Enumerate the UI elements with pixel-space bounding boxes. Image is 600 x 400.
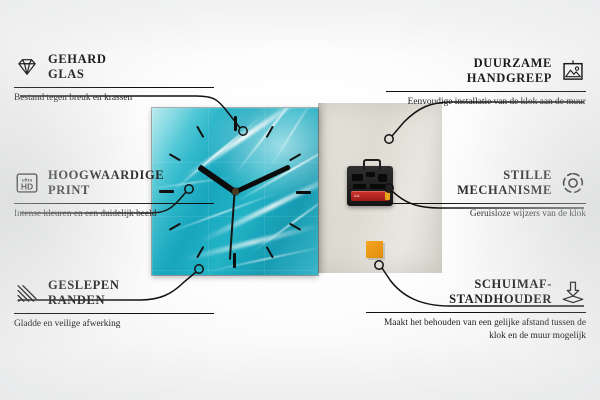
feature-header: SCHUIMAF- STANDHOUDER (366, 277, 586, 308)
divider (366, 312, 586, 314)
battery: AA (351, 191, 389, 201)
divider (386, 203, 586, 205)
svg-text:HD: HD (21, 182, 33, 192)
feature-header: GESLEPEN RANDEN (14, 278, 214, 309)
feature-title: GEHARD GLAS (48, 52, 106, 83)
feature-description: Bestand tegen breuk en krassen (14, 92, 214, 105)
feature-title: GESLEPEN RANDEN (48, 278, 120, 309)
feature-description: Intense kleuren en een duidelijk beeld (14, 208, 214, 221)
feature-description: Gladde en veilige afwerking (14, 318, 214, 331)
feature-header: ultra HD HOOGWAARDIGE PRINT (14, 168, 214, 199)
feature-title: SCHUIMAF- STANDHOUDER (449, 277, 552, 308)
infographic-canvas: AA GEHARD GLAS (0, 0, 600, 400)
framed-picture-icon (560, 58, 586, 84)
hanger-lug (363, 159, 381, 170)
feature-description: Maakt het behouden van een gelijke afsta… (366, 317, 586, 342)
foam-spacer-pad (366, 241, 383, 258)
feature-schuimaf-standhouder[interactable]: SCHUIMAF- STANDHOUDER Maakt het behouden… (366, 277, 586, 342)
feature-header: DUURZAME HANDGREEP (386, 56, 586, 87)
feature-gehard-glas[interactable]: GEHARD GLAS Bestand tegen breuk en krass… (14, 52, 214, 105)
arrow-down-pad-icon (560, 279, 586, 305)
gear-icon (560, 170, 586, 196)
feature-title: STILLE MECHANISME (457, 168, 552, 199)
clock-center-cap (232, 188, 239, 195)
feature-duurzame-handgreep[interactable]: DUURZAME HANDGREEP Eenvoudige installati… (386, 56, 586, 109)
feature-title: DUURZAME HANDGREEP (467, 56, 552, 87)
feature-header: GEHARD GLAS (14, 52, 214, 83)
feature-header: STILLE MECHANISME (386, 168, 586, 199)
divider (14, 87, 214, 89)
diagonal-lines-icon (14, 280, 40, 306)
divider (14, 313, 214, 315)
feature-hoogwaardige-print[interactable]: ultra HD HOOGWAARDIGE PRINT Intense kleu… (14, 168, 214, 221)
feature-title: HOOGWAARDIGE PRINT (48, 168, 164, 199)
feature-stille-mechanisme[interactable]: STILLE MECHANISME Geruisloze wijzers van… (386, 168, 586, 221)
divider (386, 91, 586, 93)
divider (14, 203, 214, 205)
feature-geslepen-randen[interactable]: GESLEPEN RANDEN Gladde en veilige afwerk… (14, 278, 214, 331)
feature-description: Geruisloze wijzers van de klok (386, 208, 586, 221)
diamond-icon (14, 54, 40, 80)
ultra-hd-icon: ultra HD (14, 170, 40, 196)
feature-description: Eenvoudige installatie van de klok aan d… (386, 96, 586, 109)
